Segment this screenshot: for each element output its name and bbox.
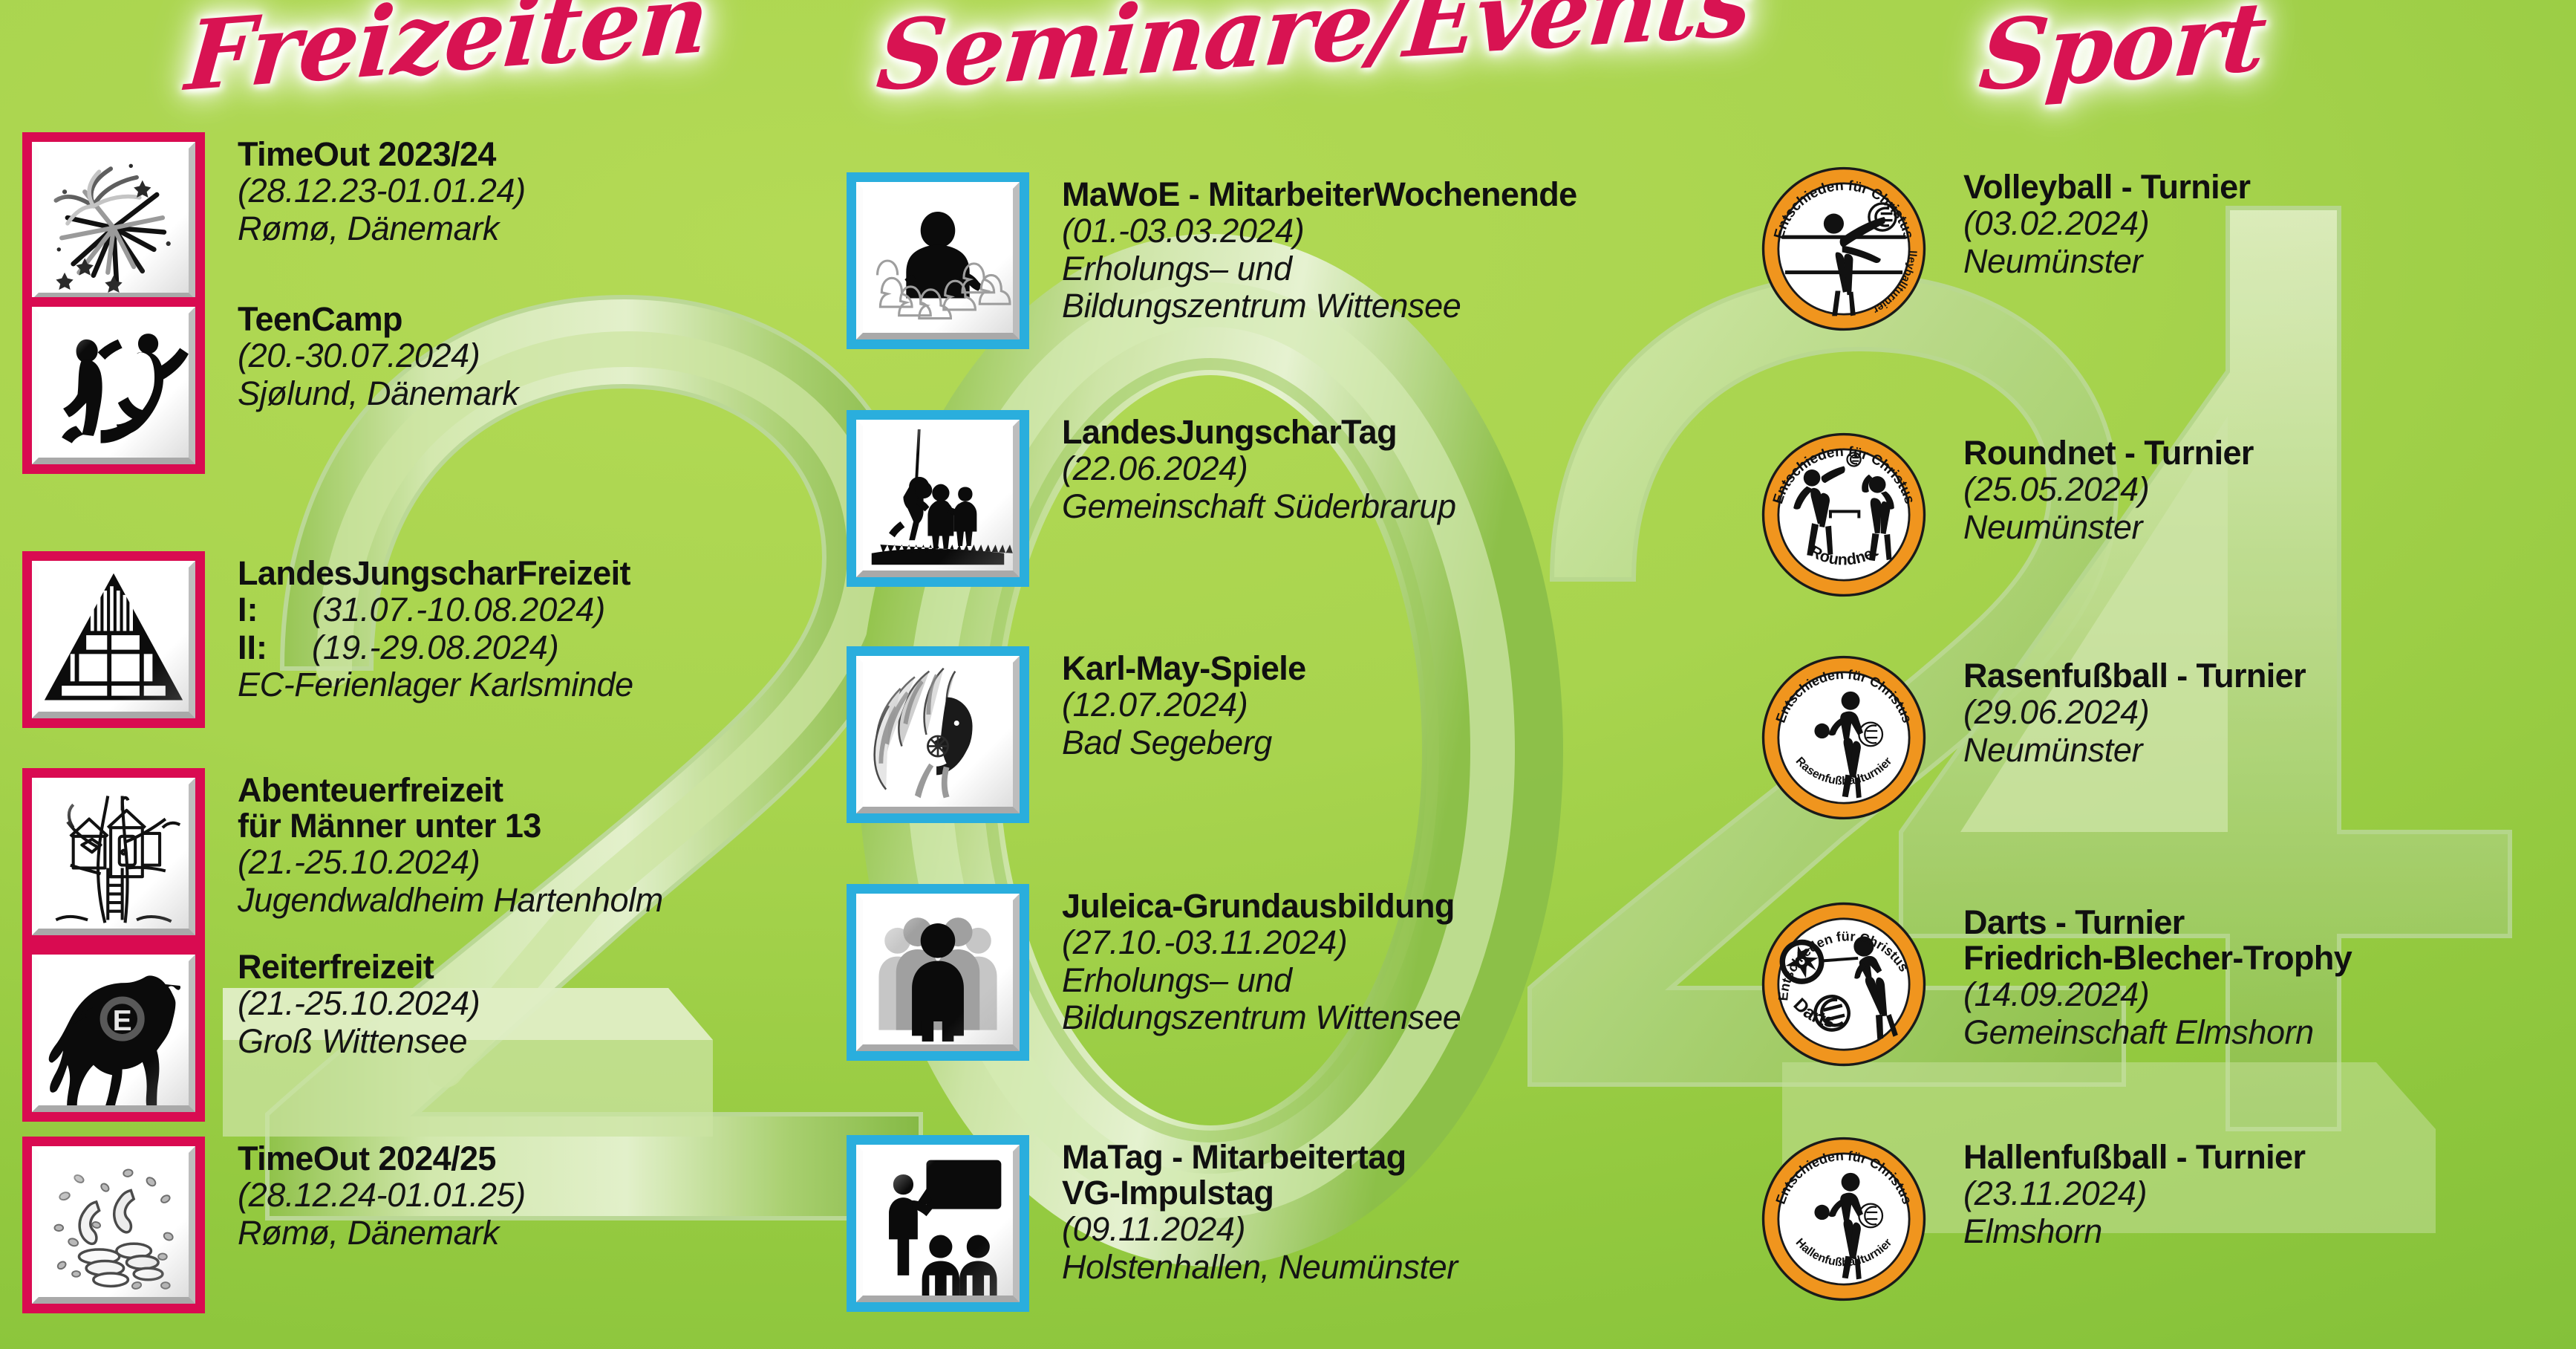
event-title: Karl-May-Spiele <box>1062 651 1306 686</box>
event-date: (27.10.-03.11.2024) <box>1062 924 1461 961</box>
event-date: (01.-03.03.2024) <box>1062 212 1577 250</box>
event-location: Erholungs– und <box>1062 250 1577 287</box>
event-text-rasenfussball: Rasenfußball - Turnier (29.06.2024) Neum… <box>1928 654 2306 769</box>
event-date: (29.06.2024) <box>1963 694 2306 731</box>
svg-text:E: E <box>113 1005 132 1037</box>
event-date: (23.11.2024) <box>1963 1175 2305 1212</box>
event-date: (14.09.2024) <box>1963 976 2352 1013</box>
event-text-roundnet: Roundnet - Turnier (25.05.2024) Neumünst… <box>1928 431 2254 546</box>
event-title: Abenteuerfreizeit <box>238 773 663 808</box>
event-title: Juleica-Grundausbildung <box>1062 888 1461 924</box>
event-item-reiterfreizeit[interactable]: E Reiterfreizeit (21.-25.10.2024) Groß W… <box>22 945 480 1122</box>
event-item-karl-may-spiele[interactable]: Karl-May-Spiele (12.07.2024) Bad Segeber… <box>847 646 1306 823</box>
event-session-2: II: (19.-29.08.2024) <box>238 629 633 666</box>
frame-native-chief <box>847 646 1029 823</box>
event-title-line2: VG-Impulstag <box>1062 1175 1458 1211</box>
event-date: (09.11.2024) <box>1062 1211 1458 1248</box>
event-location: Bad Segeberg <box>1062 724 1306 761</box>
volleyball-badge-icon: Entschieden für Christus Volleyballturni… <box>1760 165 1928 333</box>
event-item-volleyball[interactable]: Entschieden für Christus Volleyballturni… <box>1760 165 2250 333</box>
badge-hallenfussball: Entschieden für Christus Hallenfußballtu… <box>1760 1135 1928 1303</box>
a-frame-house-icon <box>39 568 189 712</box>
event-item-landesjungscharfreizeit[interactable]: LandesJungscharFreizeit I: (31.07.-10.08… <box>22 551 633 728</box>
badge-volleyball: Entschieden für Christus Volleyballturni… <box>1760 165 1928 333</box>
session-label: II: <box>238 629 312 666</box>
event-title: LandesJungscharFreizeit <box>238 556 633 591</box>
heading-seminare-events: Seminare/Events <box>873 0 1755 113</box>
breakdancer-icon <box>39 313 189 458</box>
event-location: Gemeinschaft Elmshorn <box>1963 1014 2352 1051</box>
fireworks-icon <box>39 149 189 293</box>
event-title: TeenCamp <box>238 302 518 337</box>
session-label: I: <box>238 591 312 628</box>
event-location: Sjølund, Dänemark <box>238 375 518 412</box>
frame-fireworks <box>22 132 205 309</box>
event-text-hallenfussball: Hallenfußball - Turnier (23.11.2024) Elm… <box>1928 1135 2305 1250</box>
frame-treehouse <box>22 768 205 945</box>
hallenfussball-badge-icon: Entschieden für Christus Hallenfußballtu… <box>1760 1135 1928 1303</box>
frame-a-frame-house <box>22 551 205 728</box>
event-location-line2: Bildungszentrum Wittensee <box>1062 287 1577 325</box>
event-location: Neumünster <box>1963 243 2250 280</box>
rope-swing-kids-icon <box>863 426 1013 571</box>
event-item-landesjungschartag[interactable]: LandesJungscharTag (22.06.2024) Gemeinsc… <box>847 410 1456 587</box>
event-location: Groß Wittensee <box>238 1023 480 1060</box>
event-text-juleica: Juleica-Grundausbildung (27.10.-03.11.20… <box>1029 884 1461 1036</box>
rasenfussball-badge-icon: Entschieden für Christus Rasenfußballtur… <box>1760 654 1928 822</box>
event-text-teencamp: TeenCamp (20.-30.07.2024) Sjølund, Dänem… <box>205 297 518 412</box>
event-location: Rømø, Dänemark <box>238 1215 526 1252</box>
poster-canvas: Freizeiten Seminare/Events Sport <box>0 0 2576 1349</box>
event-title: Darts - Turnier <box>1963 905 2352 940</box>
event-item-matag[interactable]: MaTag - Mitarbeitertag VG-Impulstag (09.… <box>847 1135 1458 1312</box>
event-item-darts[interactable]: Entschieden für Christus Darts Darts - T… <box>1760 900 2352 1068</box>
heading-sport: Sport <box>1975 0 2269 113</box>
event-title: TimeOut 2024/25 <box>238 1141 526 1177</box>
event-title: LandesJungscharTag <box>1062 415 1456 450</box>
event-title: Roundnet - Turnier <box>1963 435 2254 471</box>
headings-row: Freizeiten Seminare/Events Sport <box>0 0 2576 156</box>
session-date: (31.07.-10.08.2024) <box>312 591 605 628</box>
event-date: (12.07.2024) <box>1062 686 1306 724</box>
event-date: (20.-30.07.2024) <box>238 337 518 374</box>
event-title-line2: Friedrich-Blecher-Trophy <box>1963 940 2352 976</box>
event-location-line2: Bildungszentrum Wittensee <box>1062 999 1461 1036</box>
badge-rasenfussball: Entschieden für Christus Rasenfußballtur… <box>1760 654 1928 822</box>
frame-group-people <box>847 884 1029 1061</box>
badge-roundnet: Entschieden für Christus Roundnet <box>1760 431 1928 599</box>
event-item-abenteuerfreizeit[interactable]: Abenteuerfreizeit für Männer unter 13 (2… <box>22 768 663 945</box>
frame-breakdancer <box>22 297 205 474</box>
event-title: MaTag - Mitarbeitertag <box>1062 1140 1458 1175</box>
frame-presentation <box>847 1135 1029 1312</box>
event-text-landesjungscharfreizeit: LandesJungscharFreizeit I: (31.07.-10.08… <box>205 551 633 703</box>
event-location: Erholungs– und <box>1062 962 1461 999</box>
event-title: Reiterfreizeit <box>238 949 480 985</box>
darts-badge-icon: Entschieden für Christus Darts <box>1742 882 1946 1086</box>
group-people-icon <box>863 900 1013 1044</box>
event-location: Holstenhallen, Neumünster <box>1062 1249 1458 1286</box>
event-item-mawoe[interactable]: MaWoE - MitarbeiterWochenende (01.-03.03… <box>847 172 1577 349</box>
treehouse-icon <box>39 784 189 929</box>
presentation-icon <box>863 1151 1013 1296</box>
event-item-timeout-2023[interactable]: TimeOut 2023/24 (28.12.23-01.01.24) Rømø… <box>22 132 526 309</box>
frame-horse: E <box>22 945 205 1122</box>
speaker-audience-icon <box>863 189 1013 333</box>
event-location: EC-Ferienlager Karlsminde <box>238 666 633 703</box>
event-text-reiterfreizeit: Reiterfreizeit (21.-25.10.2024) Groß Wit… <box>205 945 480 1060</box>
event-location: Neumünster <box>1963 732 2306 769</box>
heading-freizeiten: Freizeiten <box>182 0 711 113</box>
event-location: Gemeinschaft Süderbrarup <box>1062 488 1456 525</box>
session-date: (19.-29.08.2024) <box>312 629 559 666</box>
event-text-landesjungschartag: LandesJungscharTag (22.06.2024) Gemeinsc… <box>1029 410 1456 525</box>
event-title: MaWoE - MitarbeiterWochenende <box>1062 177 1577 212</box>
confetti-icon <box>39 1153 189 1297</box>
event-text-timeout-2024: TimeOut 2024/25 (28.12.24-01.01.25) Rømø… <box>205 1137 526 1252</box>
event-location: Jugendwaldheim Hartenholm <box>238 882 663 919</box>
event-item-roundnet[interactable]: Entschieden für Christus Roundnet Roundn… <box>1760 431 2254 599</box>
horse-icon: E <box>39 961 189 1105</box>
event-title: Hallenfußball - Turnier <box>1963 1140 2305 1175</box>
event-item-juleica[interactable]: Juleica-Grundausbildung (27.10.-03.11.20… <box>847 884 1461 1061</box>
event-item-teencamp[interactable]: TeenCamp (20.-30.07.2024) Sjølund, Dänem… <box>22 297 518 474</box>
event-location: Neumünster <box>1963 509 2254 546</box>
event-title: Volleyball - Turnier <box>1963 169 2250 205</box>
event-date: (28.12.23-01.01.24) <box>238 172 526 209</box>
event-location: Rømø, Dänemark <box>238 210 526 247</box>
event-title-line2: für Männer unter 13 <box>238 808 663 844</box>
event-text-mawoe: MaWoE - MitarbeiterWochenende (01.-03.03… <box>1029 172 1577 325</box>
event-date: (21.-25.10.2024) <box>238 844 663 881</box>
roundnet-badge-icon: Entschieden für Christus Roundnet <box>1760 431 1928 599</box>
event-item-timeout-2024[interactable]: TimeOut 2024/25 (28.12.24-01.01.25) Rømø… <box>22 1137 526 1313</box>
frame-speaker-audience <box>847 172 1029 349</box>
event-item-rasenfussball[interactable]: Entschieden für Christus Rasenfußballtur… <box>1760 654 2306 822</box>
event-date: (03.02.2024) <box>1963 205 2250 242</box>
event-date: (21.-25.10.2024) <box>238 985 480 1022</box>
event-title: Rasenfußball - Turnier <box>1963 658 2306 694</box>
event-text-volleyball: Volleyball - Turnier (03.02.2024) Neumün… <box>1928 165 2250 280</box>
badge-darts: Entschieden für Christus Darts <box>1742 882 1946 1086</box>
event-text-abenteuerfreizeit: Abenteuerfreizeit für Männer unter 13 (2… <box>205 768 663 919</box>
native-chief-icon <box>863 663 1013 807</box>
event-date: (28.12.24-01.01.25) <box>238 1177 526 1214</box>
frame-rope-swing-kids <box>847 410 1029 587</box>
event-text-matag: MaTag - Mitarbeitertag VG-Impulstag (09.… <box>1029 1135 1458 1286</box>
frame-confetti <box>22 1137 205 1313</box>
event-session-1: I: (31.07.-10.08.2024) <box>238 591 633 628</box>
event-location: Elmshorn <box>1963 1213 2305 1250</box>
event-item-hallenfussball[interactable]: Entschieden für Christus Hallenfußballtu… <box>1760 1135 2305 1303</box>
event-date: (22.06.2024) <box>1062 450 1456 487</box>
event-date: (25.05.2024) <box>1963 471 2254 508</box>
event-text-karl-may-spiele: Karl-May-Spiele (12.07.2024) Bad Segeber… <box>1029 646 1306 761</box>
event-text-darts: Darts - Turnier Friedrich-Blecher-Trophy… <box>1928 900 2352 1051</box>
